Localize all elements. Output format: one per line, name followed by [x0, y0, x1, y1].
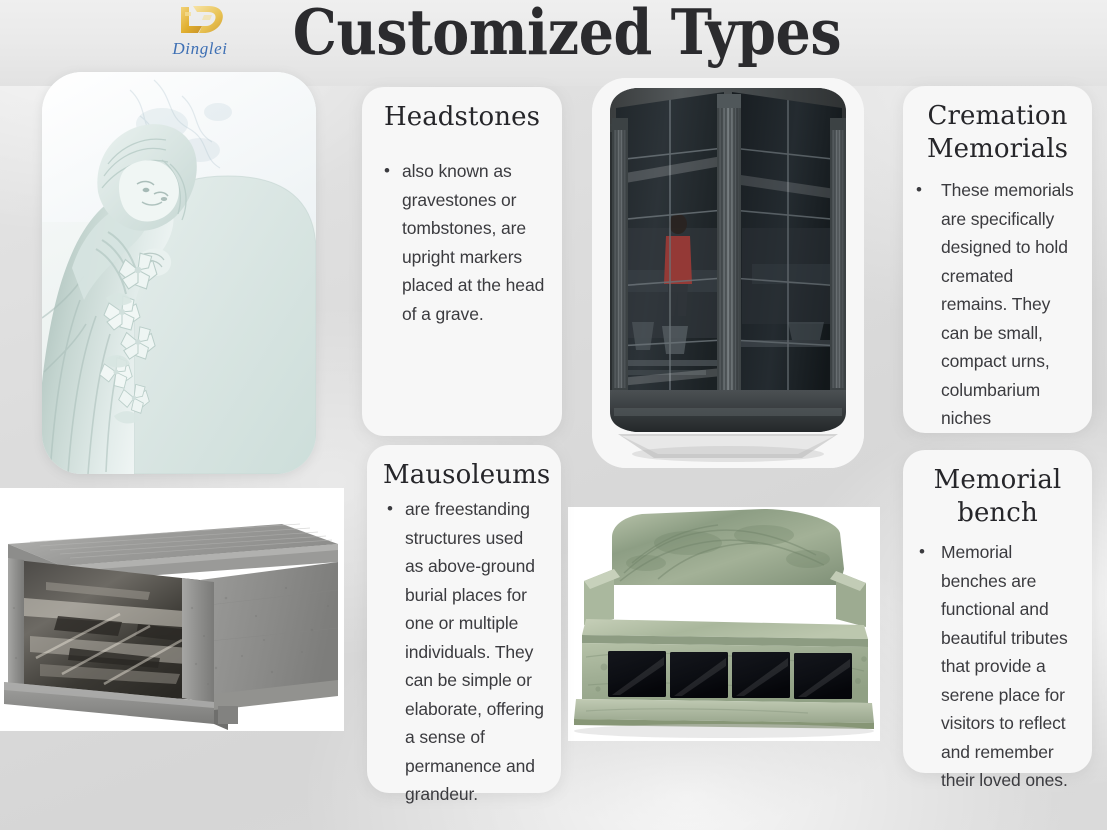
bullet-list-memorial-bench: Memorial benches are functional and beau… — [919, 538, 1076, 795]
card-memorial-bench: Memorial bench Memorial benches are func… — [903, 450, 1092, 773]
card-title-memorial-bench: Memorial bench — [919, 464, 1076, 530]
bullet-list-mausoleums: are freestanding structures used as abov… — [383, 495, 545, 809]
bullet-list-headstones: also known as gravestones or tombstones,… — [378, 157, 546, 328]
card-body-memorial-bench: Memorial benches are functional and beau… — [919, 538, 1076, 795]
card-body-mausoleums: are freestanding structures used as abov… — [383, 495, 545, 809]
page-title: Customized Types — [293, 0, 803, 68]
page-header: Dinglei Customized Types — [0, 0, 1107, 80]
list-item: are freestanding structures used as abov… — [383, 495, 545, 809]
card-cremation-memorials: Cremation Memorials These memorials are … — [903, 86, 1092, 433]
card-title-mausoleums: Mausoleums — [383, 459, 545, 491]
list-item: Memorial benches are functional and beau… — [919, 538, 1076, 795]
list-item: These memorials are specifically designe… — [919, 176, 1076, 433]
angel-headstone-photo — [42, 72, 316, 474]
card-title-headstones: Headstones — [378, 101, 546, 133]
mausoleum-crypt-photo — [0, 488, 344, 731]
cremation-columbarium-photo — [592, 78, 864, 468]
brand-logo[interactable]: Dinglei — [152, 4, 248, 66]
list-item: also known as gravestones or tombstones,… — [378, 157, 546, 328]
card-mausoleums: Mausoleums are freestanding structures u… — [367, 445, 561, 793]
ld-monogram-icon — [169, 4, 231, 38]
card-body-cremation-memorials: These memorials are specifically designe… — [919, 176, 1076, 433]
bullet-list-cremation-memorials: These memorials are specifically designe… — [919, 176, 1076, 433]
memorial-bench-photo — [568, 507, 880, 741]
card-headstones: Headstones also known as gravestones or … — [362, 87, 562, 436]
brand-name: Dinglei — [172, 39, 227, 59]
card-body-headstones: also known as gravestones or tombstones,… — [378, 157, 546, 328]
card-title-cremation-memorials: Cremation Memorials — [919, 100, 1076, 166]
